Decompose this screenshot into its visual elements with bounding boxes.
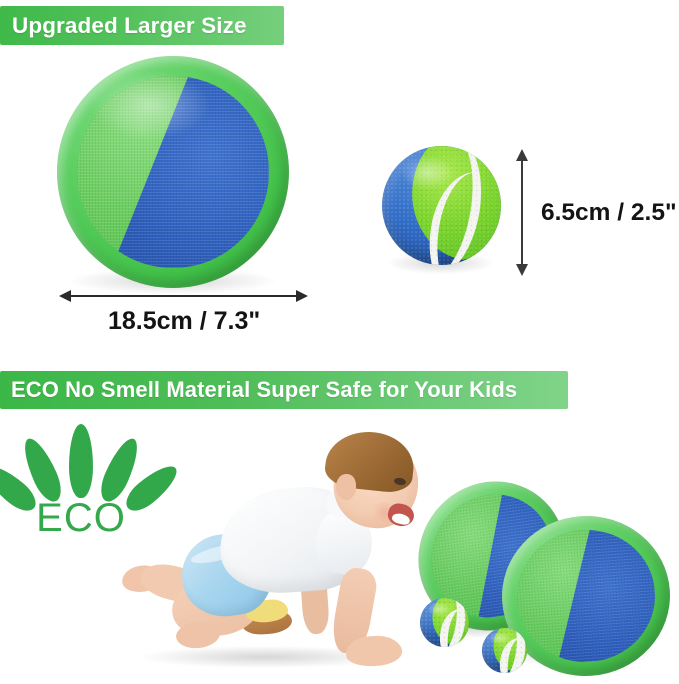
dimension-arrow-height [521, 160, 523, 265]
ball-body [420, 598, 469, 647]
arrow-head-right-icon [296, 290, 308, 302]
crawling-baby-photo [120, 418, 420, 680]
paddle-front-face [513, 526, 660, 666]
ball-highlight [401, 156, 453, 189]
ball-highlight [428, 602, 450, 616]
product-ball-small-2 [482, 628, 527, 673]
paddle-face-texture [77, 76, 269, 268]
product-group-shot [410, 480, 679, 684]
dimension-label-width: 18.5cm / 7.3" [108, 307, 260, 336]
paddle-velcro-face [77, 76, 269, 268]
arrow-head-left-icon [59, 290, 71, 302]
dimension-arrow-width [70, 295, 297, 297]
ball-body [482, 628, 527, 673]
product-ball-small-1 [420, 598, 469, 647]
arrow-head-down-icon [516, 264, 528, 276]
ball-highlight [489, 632, 509, 645]
banner-eco-label: ECO No Smell Material Super Safe for You… [11, 377, 517, 403]
banner-upgraded-size: Upgraded Larger Size [0, 6, 284, 45]
banner-size-label: Upgraded Larger Size [12, 13, 247, 39]
arrow-head-up-icon [516, 149, 528, 161]
infographic-canvas: Upgraded Larger Size 18.5cm / 7.3" 6.5cm [0, 0, 679, 684]
product-paddle-large [57, 56, 289, 288]
banner-eco-material: ECO No Smell Material Super Safe for You… [0, 371, 568, 409]
product-ball-large [382, 146, 501, 265]
ball-body [382, 146, 501, 265]
leaf-icon-center [69, 424, 93, 498]
dimension-label-height: 6.5cm / 2.5" [541, 199, 677, 227]
paddle-front-texture [513, 526, 660, 666]
baby-ear [336, 474, 356, 500]
